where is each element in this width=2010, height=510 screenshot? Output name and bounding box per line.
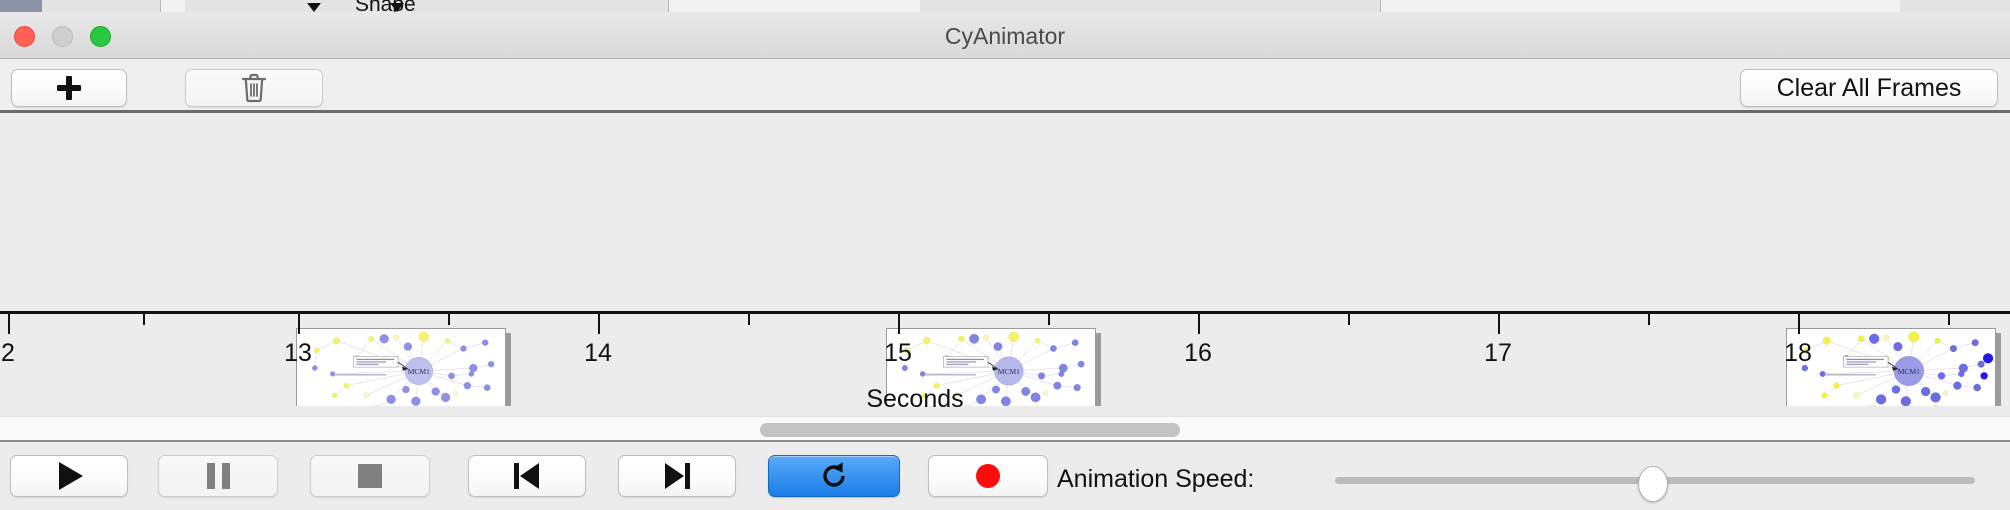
- trash-icon: [241, 73, 267, 103]
- axis-title: Seconds: [0, 385, 2010, 414]
- tick-label: 16: [1184, 339, 1212, 368]
- svg-text:MCM1: MCM1: [998, 367, 1020, 376]
- clear-all-frames-button[interactable]: Clear All Frames: [1740, 69, 1998, 107]
- horizontal-scrollbar[interactable]: [0, 416, 2010, 442]
- scrollbar-thumb[interactable]: [760, 423, 1180, 437]
- axis-title-label: Seconds: [866, 385, 963, 413]
- tick-label: 14: [584, 339, 612, 368]
- skip-back-icon: [514, 463, 540, 489]
- pause-button[interactable]: [158, 455, 278, 497]
- window-title: CyAnimator: [0, 23, 2010, 50]
- record-button[interactable]: [928, 455, 1048, 497]
- skip-forward-icon: [664, 463, 690, 489]
- svg-text:MCM1: MCM1: [1898, 367, 1920, 376]
- delete-frame-button[interactable]: [185, 69, 323, 107]
- loop-icon: [818, 460, 850, 492]
- plus-icon: [57, 76, 81, 100]
- stop-button[interactable]: [310, 455, 430, 497]
- skip-to-end-button[interactable]: [618, 455, 736, 497]
- tick-label: 18: [1784, 339, 1812, 368]
- play-icon: [59, 462, 83, 490]
- skip-to-start-button[interactable]: [468, 455, 586, 497]
- pause-icon: [207, 463, 230, 489]
- svg-text:MCM1: MCM1: [408, 367, 430, 376]
- record-icon: [976, 464, 1000, 488]
- play-button[interactable]: [10, 455, 128, 497]
- tick-label: 15: [884, 339, 912, 368]
- tick-label: 2: [1, 339, 15, 368]
- animation-speed-label: Animation Speed:: [1057, 465, 1254, 494]
- tick-label: 13: [284, 339, 312, 368]
- tick-label: 17: [1484, 339, 1512, 368]
- toolbar: Clear All Frames: [0, 59, 2010, 113]
- timeline-axis-line: [0, 311, 2010, 314]
- title-bar: CyAnimator: [0, 12, 2010, 59]
- stop-icon: [358, 464, 382, 488]
- add-frame-button[interactable]: [11, 69, 127, 107]
- loop-button[interactable]: [768, 455, 900, 497]
- cyanimator-window: Shape CyAnimator Clear All Frames: [0, 0, 2010, 510]
- animation-speed-slider-thumb[interactable]: [1638, 466, 1668, 502]
